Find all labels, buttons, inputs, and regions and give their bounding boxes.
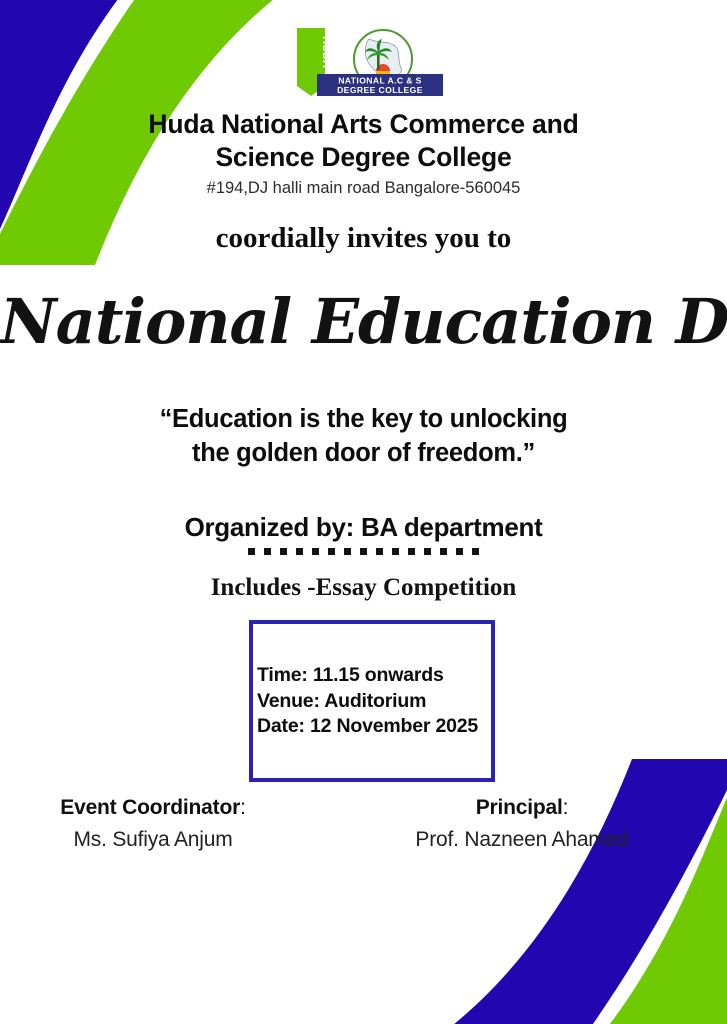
header-block: Huda National Arts Commerce and Science … [0,108,727,199]
divider-dot [280,548,287,555]
invitation-poster: HUDA NATIONAL A.C & S DEGREE COLLEGE [0,0,727,1024]
divider-dot [440,548,447,555]
divider-dot [376,548,383,555]
quote-line2: the golden door of freedom.” [0,436,727,470]
divider-dot [424,548,431,555]
logo-block: HUDA NATIONAL A.C & S DEGREE COLLEGE [0,26,727,98]
detail-venue: Venue: Auditorium [257,689,478,715]
logo-banner-line2: DEGREE COLLEGE [337,85,423,95]
college-address: #194,DJ halli main road Bangalore-560045 [0,177,727,199]
divider-dot [312,548,319,555]
invite-line: coordially invites you to [0,222,727,255]
divider-dot [472,548,479,555]
event-coordinator-signature: Event Coordinator: Ms. Sufiya Anjum [22,796,284,852]
event-title: National Education Day [0,284,727,360]
principal-role: Principal: [372,796,672,820]
dotted-divider [0,548,727,555]
divider-dot [296,548,303,555]
divider-dot [344,548,351,555]
principal-name: Prof. Nazneen Ahamed [372,828,672,852]
detail-date: Date: 12 November 2025 [257,714,478,740]
divider-dot [456,548,463,555]
details-list: Time: 11.15 onwards Venue: Auditorium Da… [257,663,478,740]
divider-dot [264,548,271,555]
divider-dot [248,548,255,555]
quote-block: “Education is the key to unlocking the g… [0,402,727,470]
logo-huda-text: HUDA [320,36,332,68]
divider-dot [408,548,415,555]
event-coordinator-role-label: Event Coordinator [60,796,240,819]
college-name-line1: Huda National Arts Commerce and [0,108,727,141]
divider-dot [392,548,399,555]
principal-colon: : [563,796,569,819]
principal-signature: Principal: Prof. Nazneen Ahamed [372,796,672,852]
divider-dot [360,548,367,555]
event-coordinator-role: Event Coordinator: [22,796,284,820]
detail-time: Time: 11.15 onwards [257,663,478,689]
event-coordinator-name: Ms. Sufiya Anjum [22,828,284,852]
quote-line1: “Education is the key to unlocking [0,402,727,436]
college-name-line2: Science Degree College [0,141,727,174]
organized-by-line: Organized by: BA department [0,512,727,543]
divider-dot [328,548,335,555]
huda-college-logo: HUDA NATIONAL A.C & S DEGREE COLLEGE [283,26,445,98]
principal-role-label: Principal [476,796,563,819]
includes-line: Includes -Essay Competition [0,574,727,602]
event-coordinator-colon: : [240,796,246,819]
logo-banner-line1: NATIONAL A.C & S [338,76,422,86]
